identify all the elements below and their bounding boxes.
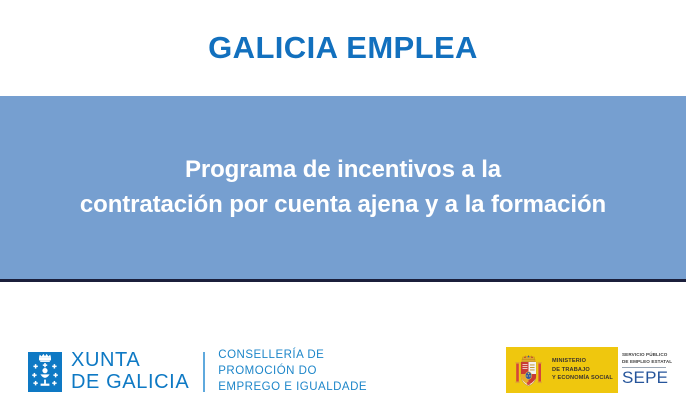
- page-title: GALICIA EMPLEA: [208, 30, 478, 66]
- ministerio-line-2: DE TRABAJO: [552, 366, 613, 374]
- xunta-coat-of-arms-icon: [28, 352, 62, 392]
- banner-line-2: contratación por cuenta ajena y a la for…: [80, 188, 606, 222]
- program-banner: Programa de incentivos a la contratación…: [0, 96, 686, 282]
- conselleria-text: CONSELLERÍA DE PROMOCIÓN DO EMPREGO E IG…: [218, 348, 367, 396]
- conselleria-line-3: EMPREGO E IGUALDADE: [218, 380, 367, 396]
- sepe-wordmark: SEPE: [622, 369, 674, 386]
- ministerio-text: MINISTERIO DE TRABAJO Y ECONOMÍA SOCIAL: [552, 357, 613, 382]
- spain-coat-of-arms-icon: [512, 350, 545, 390]
- xunta-wordmark: XUNTA DE GALICIA: [71, 350, 189, 393]
- sepe-subtitle-line-2: DE EMPLEO ESTATAL: [622, 359, 674, 366]
- conselleria-line-1: CONSELLERÍA DE: [218, 348, 367, 364]
- ministerio-de-trabajo-logo: MINISTERIO DE TRABAJO Y ECONOMÍA SOCIAL: [506, 347, 618, 393]
- conselleria-line-2: PROMOCIÓN DO: [218, 364, 367, 380]
- page-header: GALICIA EMPLEA: [0, 0, 686, 96]
- banner-text-block: Programa de incentivos a la contratación…: [70, 153, 616, 221]
- xunta-de-galicia-logo: XUNTA DE GALICIA CONSELLERÍA DE PROMOCIÓ…: [28, 348, 367, 396]
- sepe-subtitle: SERVICIO PÚBLICO DE EMPLEO ESTATAL: [622, 352, 674, 365]
- sepe-subtitle-line-1: SERVICIO PÚBLICO: [622, 352, 674, 359]
- footer-logos: XUNTA DE GALICIA CONSELLERÍA DE PROMOCIÓ…: [0, 285, 686, 410]
- ministerio-line-1: MINISTERIO: [552, 357, 613, 365]
- logo-divider: [203, 352, 205, 392]
- xunta-wordmark-line-1: XUNTA: [71, 350, 189, 372]
- xunta-wordmark-line-2: DE GALICIA: [71, 372, 189, 394]
- ministerio-line-3: Y ECONOMÍA SOCIAL: [552, 374, 613, 382]
- banner-line-1: Programa de incentivos a la: [80, 153, 606, 187]
- sepe-logo: SERVICIO PÚBLICO DE EMPLEO ESTATAL SEPE: [618, 347, 674, 393]
